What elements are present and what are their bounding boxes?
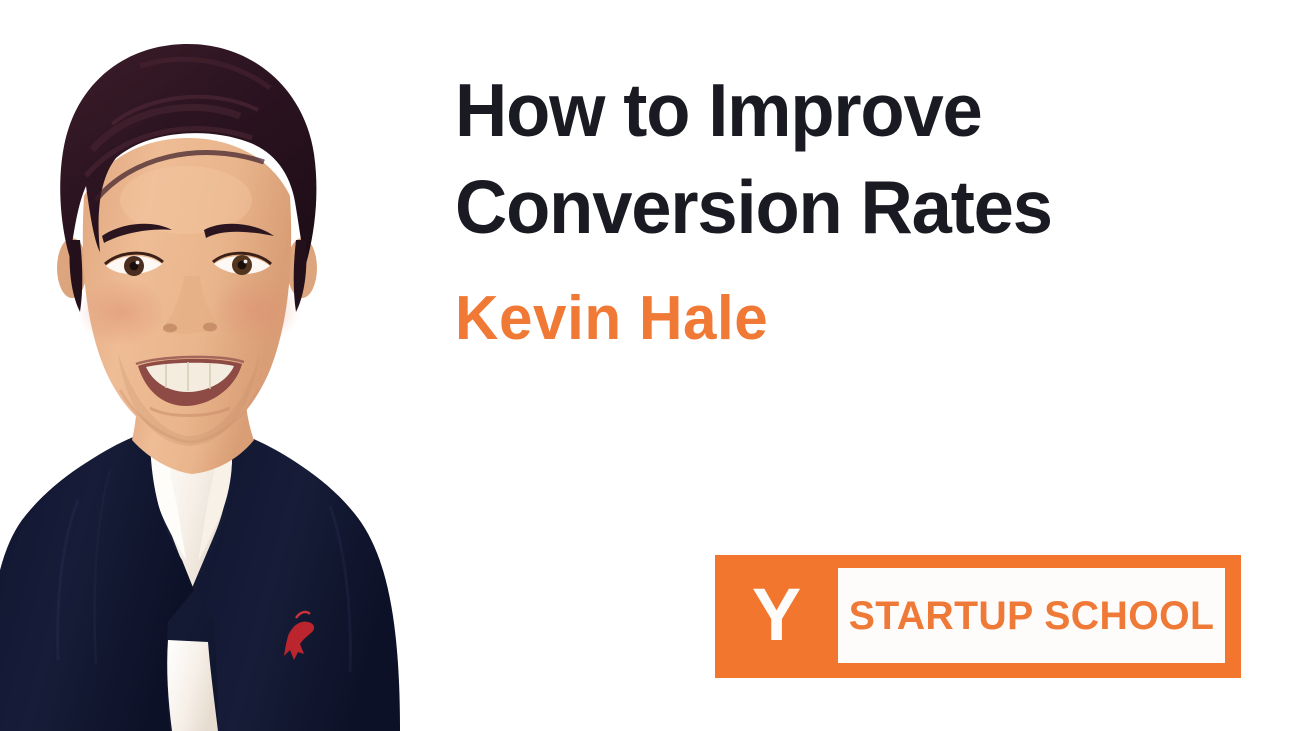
logo-wordmark-text: STARTUP SCHOOL bbox=[849, 596, 1215, 636]
title-line-1: How to Improve bbox=[455, 62, 1227, 159]
logo-wordmark-panel: STARTUP SCHOOL bbox=[838, 568, 1225, 663]
startup-school-logo: Y STARTUP SCHOOL bbox=[715, 555, 1241, 678]
title-line-2: Conversion Rates bbox=[455, 159, 1227, 256]
title-card-slide: How to Improve Conversion Rates Kevin Ha… bbox=[0, 0, 1300, 731]
title-text-block: How to Improve Conversion Rates Kevin Ha… bbox=[455, 62, 1255, 354]
speaker-name: Kevin Hale bbox=[455, 284, 1231, 354]
speaker-portrait-photo bbox=[0, 0, 430, 731]
portrait-illustration bbox=[0, 0, 430, 731]
y-combinator-monogram: Y bbox=[715, 555, 838, 678]
